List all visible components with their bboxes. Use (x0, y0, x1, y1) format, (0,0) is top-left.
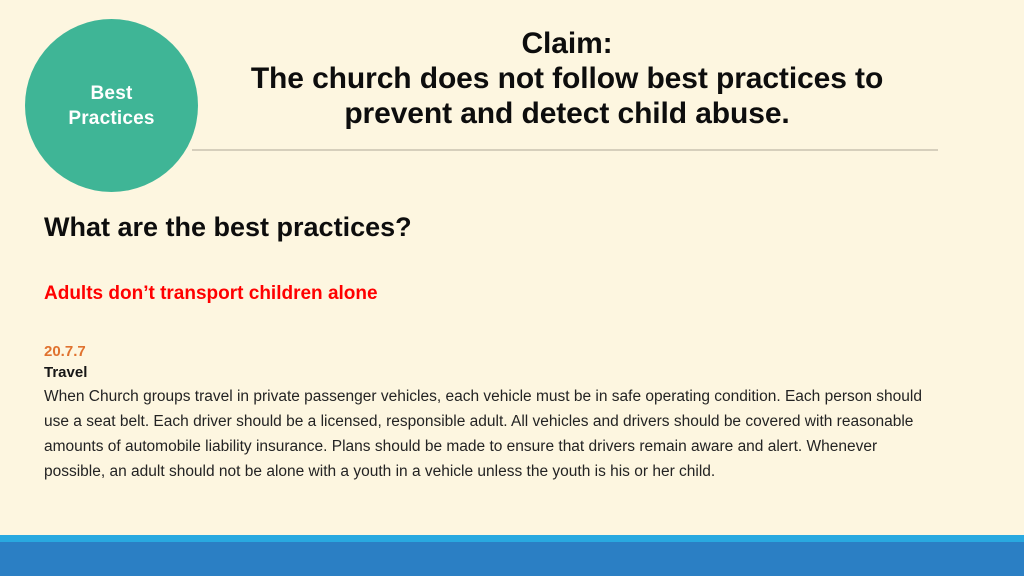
slide-title: Claim: The church does not follow best p… (196, 26, 938, 131)
section-heading: What are the best practices? (44, 210, 944, 244)
reference-number: 20.7.7 (44, 342, 944, 361)
practice-heading: Adults don’t transport children alone (44, 282, 944, 306)
badge-label-line-1: Best (91, 81, 133, 106)
slide-content: What are the best practices? Adults don’… (44, 210, 944, 484)
title-divider-rule (192, 149, 938, 151)
reference-title: Travel (44, 363, 944, 383)
badge-label-line-2: Practices (68, 106, 154, 131)
title-line-3: prevent and detect child abuse. (196, 96, 938, 131)
title-line-2: The church does not follow best practice… (196, 61, 938, 96)
reference-body-text: When Church groups travel in private pas… (44, 384, 924, 484)
footer-dark-bar (0, 542, 1024, 576)
footer-light-bar (0, 535, 1024, 542)
slide-canvas: Best Practices Claim: The church does no… (0, 0, 1024, 576)
title-line-1: Claim: (196, 26, 938, 61)
best-practices-badge: Best Practices (25, 19, 198, 192)
